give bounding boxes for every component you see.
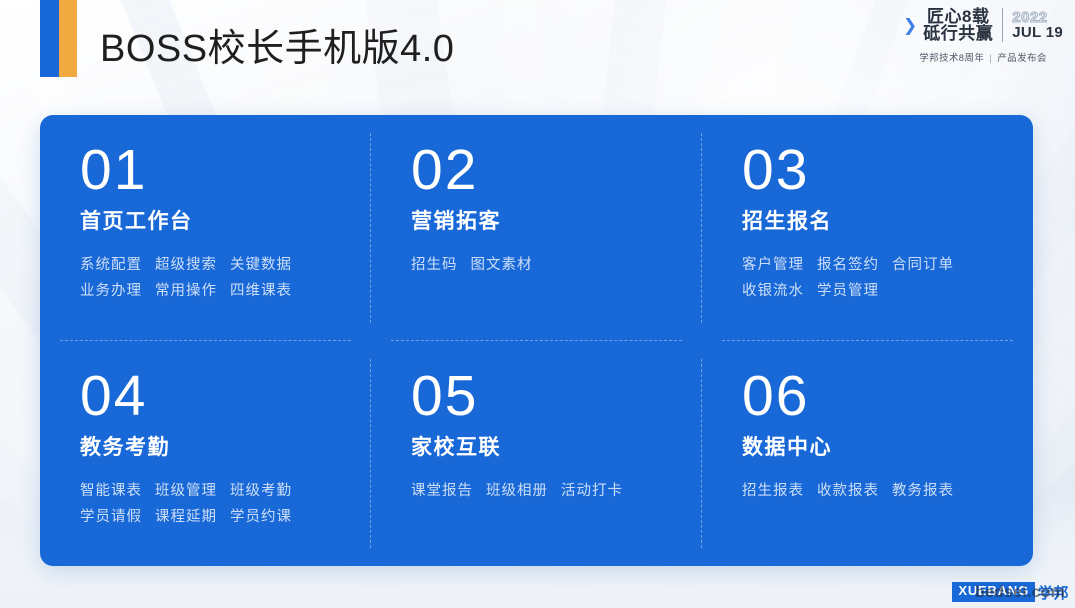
feature-tag[interactable]: 图文素材 <box>471 253 533 274</box>
brand-name: 学邦 <box>1038 582 1069 603</box>
accent-bar-orange <box>59 0 78 77</box>
feature-cell-number: 01 <box>80 142 337 199</box>
event-logo-slogan-line2: 砥行共赢 <box>923 25 993 42</box>
feature-tag[interactable]: 课堂报告 <box>411 479 473 500</box>
slide-root: BOSS校长手机版4.0 ❯ 匠心8载 砥行共赢 2022 JUL 19 学邦技… <box>0 0 1075 608</box>
feature-cell-number: 02 <box>411 142 668 199</box>
event-logo-subtitle-right: 产品发布会 <box>997 53 1047 64</box>
feature-tag[interactable]: 班级相册 <box>486 479 548 500</box>
feature-cell-title: 家校互联 <box>411 431 668 461</box>
event-logo-slogan-line1: 匠心8载 <box>923 8 993 25</box>
feature-cell-04[interactable]: 04教务考勤智能课表班级管理班级考勤学员请假课程延期学员约课 <box>40 341 371 567</box>
page-title: BOSS校长手机版4.0 <box>100 17 454 72</box>
feature-tag[interactable]: 系统配置 <box>80 253 142 274</box>
feature-cell-tag-list: 智能课表班级管理班级考勤学员请假课程延期学员约课 <box>80 479 337 526</box>
event-logo: ❯ 匠心8载 砥行共赢 2022 JUL 19 学邦技术8周年 | 产品发布会 <box>899 8 1067 64</box>
slide-header: BOSS校长手机版4.0 ❯ 匠心8载 砥行共赢 2022 JUL 19 学邦技… <box>0 0 1075 100</box>
accent-bar-blue <box>40 0 59 77</box>
feature-cell-title: 首页工作台 <box>80 205 337 235</box>
title-accent-bars <box>40 0 77 77</box>
feature-tag[interactable]: 学员请假 <box>80 505 142 526</box>
feature-tag[interactable]: 收银流水 <box>742 279 804 300</box>
feature-cell-tag-list: 招生码图文素材 <box>411 253 668 274</box>
feature-cell-title: 营销拓客 <box>411 205 668 235</box>
chevron-right-icon: ❯ <box>903 17 917 34</box>
feature-tag[interactable]: 关键数据 <box>230 253 292 274</box>
feature-cell-number: 05 <box>411 368 668 425</box>
feature-tag[interactable]: 班级考勤 <box>230 479 292 500</box>
feature-tag[interactable]: 教务报表 <box>892 479 954 500</box>
feature-cell-title: 教务考勤 <box>80 431 337 461</box>
feature-cell-tag-list: 招生报表收款报表教务报表 <box>742 479 999 500</box>
feature-cell-number: 03 <box>742 142 999 199</box>
feature-grid: 01首页工作台系统配置超级搜索关键数据业务办理常用操作四维课表02营销拓客招生码… <box>40 115 1033 566</box>
event-logo-year: 2022 <box>1012 10 1063 26</box>
event-logo-divider <box>1002 8 1003 42</box>
feature-tag[interactable]: 招生报表 <box>742 479 804 500</box>
feature-cell-number: 04 <box>80 368 337 425</box>
feature-tag[interactable]: 合同订单 <box>892 253 954 274</box>
feature-tag[interactable]: 业务办理 <box>80 279 142 300</box>
feature-cell-title: 招生报名 <box>742 205 999 235</box>
feature-cell-number: 06 <box>742 368 999 425</box>
event-logo-subtitle-left: 学邦技术8周年 <box>919 53 984 64</box>
feature-cell-01[interactable]: 01首页工作台系统配置超级搜索关键数据业务办理常用操作四维课表 <box>40 115 371 341</box>
feature-tag[interactable]: 招生码 <box>411 253 458 274</box>
brand-badge: XUEBANG <box>952 582 1035 601</box>
feature-tag[interactable]: 学员管理 <box>817 279 879 300</box>
feature-tag[interactable]: 报名签约 <box>817 253 879 274</box>
feature-cell-02[interactable]: 02营销拓客招生码图文素材 <box>371 115 702 341</box>
event-logo-slogan: 匠心8载 砥行共赢 <box>923 8 993 43</box>
feature-cell-title: 数据中心 <box>742 431 999 461</box>
event-logo-main: ❯ 匠心8载 砥行共赢 2022 JUL 19 <box>899 8 1067 43</box>
feature-cell-tag-list: 客户管理报名签约合同订单收银流水学员管理 <box>742 253 999 300</box>
event-logo-subtitle: 学邦技术8周年 | 产品发布会 <box>899 50 1067 64</box>
feature-tag[interactable]: 学员约课 <box>230 505 292 526</box>
brand-logo: XUEBANG 学邦 <box>952 581 1069 603</box>
feature-tag[interactable]: 班级管理 <box>155 479 217 500</box>
feature-tag[interactable]: 活动打卡 <box>561 479 623 500</box>
feature-tag[interactable]: 课程延期 <box>155 505 217 526</box>
feature-tag[interactable]: 常用操作 <box>155 279 217 300</box>
feature-cell-06[interactable]: 06数据中心招生报表收款报表教务报表 <box>702 341 1033 567</box>
event-logo-subtitle-divider: | <box>989 53 992 64</box>
event-logo-day: JUL 19 <box>1012 25 1063 41</box>
feature-tag[interactable]: 客户管理 <box>742 253 804 274</box>
feature-tag[interactable]: 超级搜索 <box>155 253 217 274</box>
feature-cell-05[interactable]: 05家校互联课堂报告班级相册活动打卡 <box>371 341 702 567</box>
feature-cell-03[interactable]: 03招生报名客户管理报名签约合同订单收银流水学员管理 <box>702 115 1033 341</box>
feature-cell-tag-list: 系统配置超级搜索关键数据业务办理常用操作四维课表 <box>80 253 337 300</box>
feature-tag[interactable]: 四维课表 <box>230 279 292 300</box>
event-logo-date: 2022 JUL 19 <box>1012 10 1063 42</box>
feature-tag[interactable]: 智能课表 <box>80 479 142 500</box>
feature-tag[interactable]: 收款报表 <box>817 479 879 500</box>
feature-cell-tag-list: 课堂报告班级相册活动打卡 <box>411 479 668 500</box>
